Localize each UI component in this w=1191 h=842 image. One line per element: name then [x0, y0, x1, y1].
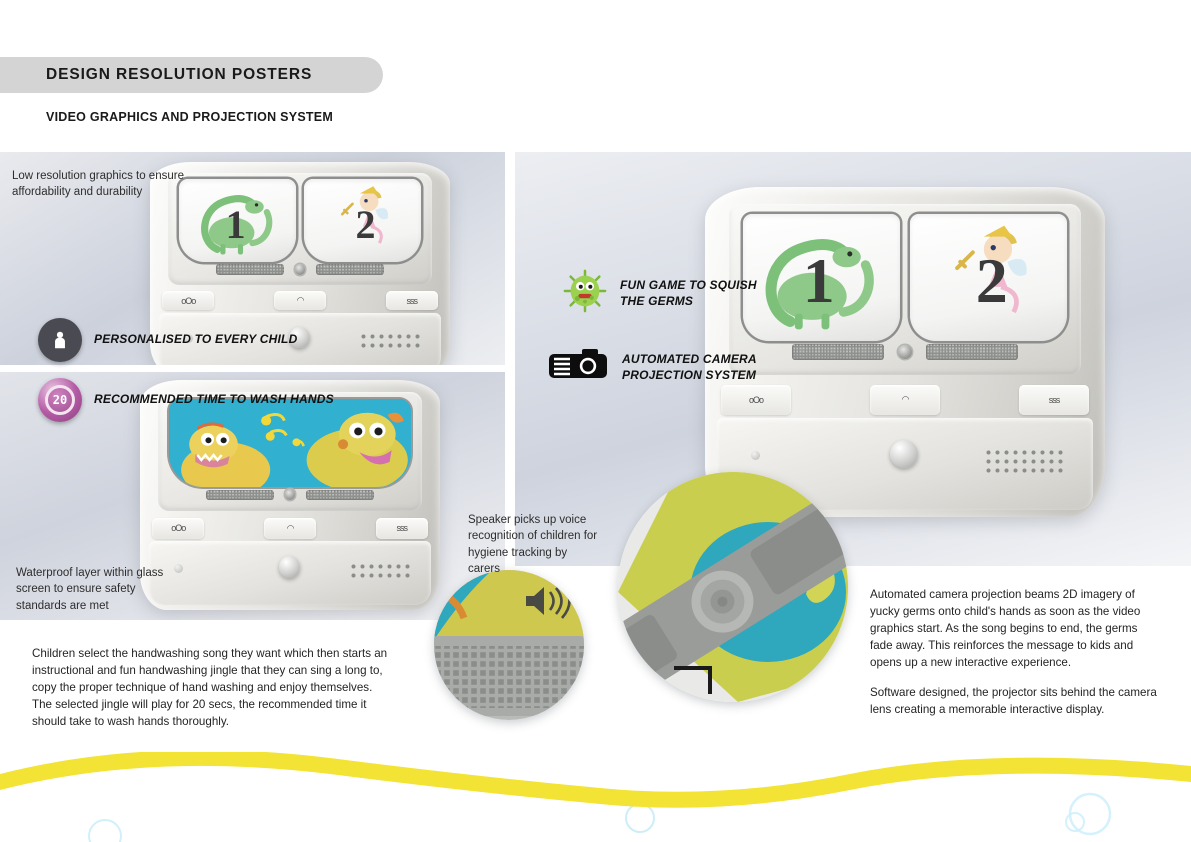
body-right-paragraph-1: Automated camera projection beams 2D ima… — [870, 586, 1162, 671]
poster-page: DESIGN RESOLUTION POSTERS VIDEO GRAPHICS… — [0, 0, 1191, 842]
grille-right — [316, 264, 385, 274]
option-two-numeral: 2 — [976, 244, 1008, 318]
grille-right — [926, 344, 1018, 359]
badge-squish-germs-label: FUN GAME TO SQUISH THE GERMS — [620, 278, 757, 309]
badge-personalised-label: PERSONALISED TO EVERY CHILD — [94, 332, 297, 348]
button-soap[interactable]: oOo — [152, 518, 204, 539]
badge-recommended-time-label: RECOMMENDED TIME TO WASH HANDS — [94, 392, 334, 408]
dispenser-bezel: 1 2 — [168, 173, 432, 285]
page-title: DESIGN RESOLUTION POSTERS — [46, 66, 312, 84]
button-dryer[interactable]: sss — [1019, 385, 1089, 415]
button-water[interactable]: ◠ — [274, 291, 326, 310]
vent-dot-grid — [349, 562, 411, 581]
germ-icon — [562, 268, 608, 319]
control-button-row: oOo ◠ sss — [162, 291, 438, 310]
button-water[interactable]: ◠ — [870, 385, 940, 415]
person-icon — [38, 318, 82, 362]
vent-dot-grid — [359, 332, 421, 350]
camera-lens-icon — [898, 345, 913, 360]
button-soap[interactable]: oOo — [162, 291, 214, 310]
footer-wave: 0%" stop-color="#3ec0e8"/> 45%" stop-col… — [0, 752, 1191, 842]
option-two-numeral: 2 — [355, 201, 375, 248]
camera-lens-icon — [295, 264, 306, 275]
note-low-resolution: Low resolution graphics to ensure afford… — [12, 168, 187, 201]
timer-20-icon: 20 — [38, 378, 82, 422]
dispenser-lower-face — [149, 541, 431, 605]
control-button-row: oOo ◠ sss — [721, 385, 1089, 415]
page-subtitle: VIDEO GRAPHICS AND PROJECTION SYSTEM — [46, 110, 333, 124]
camera-lens-icon — [285, 489, 296, 500]
body-right-paragraph-2: Software designed, the projector sits be… — [870, 684, 1162, 718]
option-one-numeral: 1 — [803, 244, 835, 318]
button-dryer[interactable]: sss — [376, 518, 428, 539]
option-one-numeral: 1 — [226, 201, 246, 248]
grille-right — [306, 490, 375, 501]
lens-icon — [618, 472, 848, 702]
screen-pair: 1 2 — [743, 214, 1067, 341]
badge-projection-line1: AUTOMATED CAMERA — [622, 352, 757, 368]
button-water[interactable]: ◠ — [264, 518, 316, 539]
speaker-waves-icon — [434, 570, 584, 720]
dispenser-bezel: 1 2 — [729, 204, 1081, 376]
screen-option-two[interactable]: 2 — [304, 179, 422, 262]
page-title-pill: DESIGN RESOLUTION POSTERS — [0, 57, 383, 93]
inset-speaker — [434, 570, 584, 720]
button-soap[interactable]: oOo — [721, 385, 791, 415]
note-waterproof: Waterproof layer within glass screen to … — [16, 565, 184, 614]
note-speaker: Speaker picks up voice recognition of ch… — [468, 512, 600, 577]
vent-dot-grid — [984, 448, 1067, 476]
badge-squish-germs-line1: FUN GAME TO SQUISH — [620, 278, 757, 294]
screen-option-two[interactable]: 2 — [910, 214, 1067, 341]
dispenser-render-c: 1 2 — [705, 187, 1105, 517]
projector-icon — [548, 348, 610, 387]
inset-camera-lens — [618, 472, 848, 702]
status-led-icon — [751, 451, 760, 460]
screen-pair: 1 2 — [179, 179, 422, 262]
badge-projection-line2: PROJECTION SYSTEM — [622, 368, 757, 384]
screen-option-one[interactable]: 1 — [179, 179, 297, 262]
screen-option-one[interactable]: 1 — [743, 214, 900, 341]
timer-value: 20 — [45, 385, 75, 415]
grille-left — [206, 490, 275, 501]
sensor-dome — [890, 440, 918, 468]
body-left-paragraph: Children select the handwashing song the… — [32, 645, 394, 730]
grille-left — [792, 344, 884, 359]
grille-left — [216, 264, 285, 274]
badge-recommended-time: 20 RECOMMENDED TIME TO WASH HANDS — [38, 378, 334, 422]
badge-personalised: PERSONALISED TO EVERY CHILD — [38, 318, 297, 362]
sensor-dome — [279, 556, 300, 577]
button-dryer[interactable]: sss — [386, 291, 438, 310]
badge-projection-system-label: AUTOMATED CAMERA PROJECTION SYSTEM — [622, 352, 757, 383]
badge-projection-system: AUTOMATED CAMERA PROJECTION SYSTEM — [548, 348, 757, 387]
body-copy-left: Children select the handwashing song the… — [32, 645, 394, 730]
control-button-row: oOo ◠ sss — [152, 518, 428, 539]
speaker-grilles — [792, 344, 1017, 359]
speaker-grilles — [216, 264, 385, 274]
body-copy-right: Automated camera projection beams 2D ima… — [870, 586, 1162, 718]
badge-squish-germs: FUN GAME TO SQUISH THE GERMS — [562, 268, 757, 319]
speaker-grilles — [206, 490, 375, 501]
badge-squish-germs-line2: THE GERMS — [620, 294, 757, 310]
